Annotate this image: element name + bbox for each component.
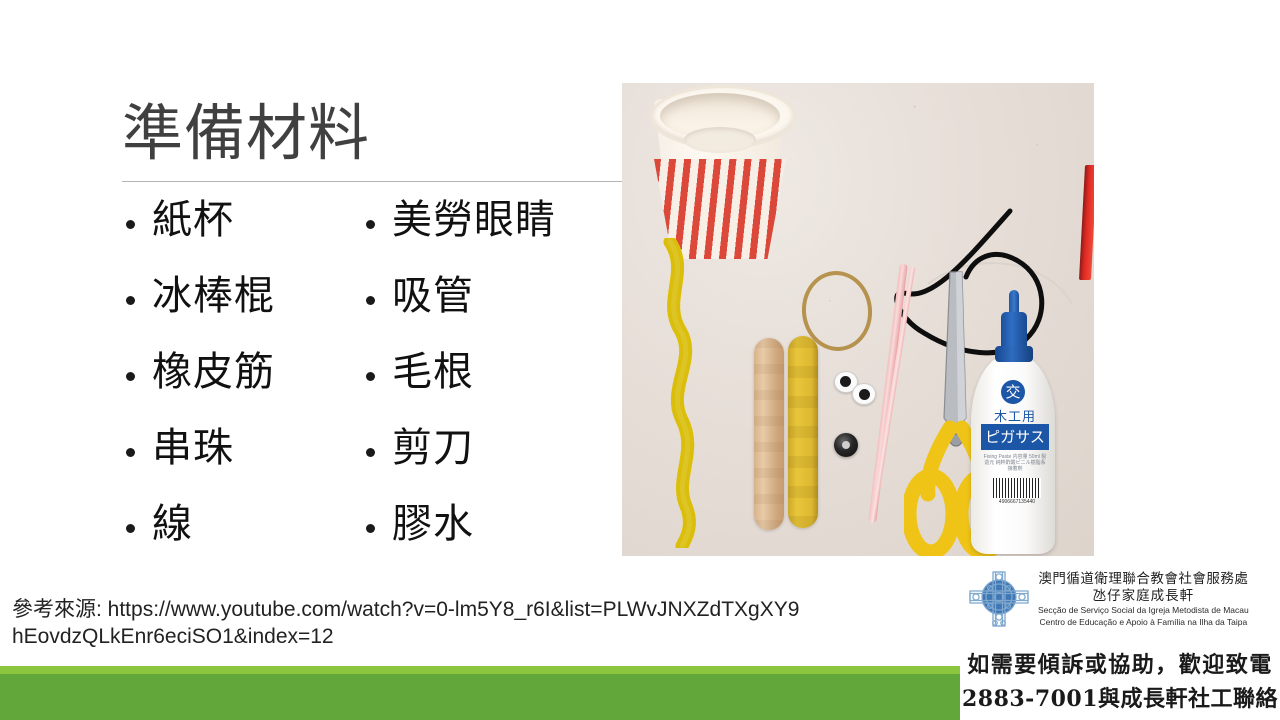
organisation-logo-block: 澳門循道衛理聯合教會社會服務處 氹仔家庭成長軒 Secção de Serviç… [960,560,1280,720]
materials-column-left: 紙杯 冰棒棍 橡皮筋 串珠 線 [126,197,366,577]
list-item-label: 冰棒棍 [152,273,275,319]
org-name-zh-2: 氹仔家庭成長軒 [1038,587,1249,605]
glue-fine-print: Fixing Paste 内容量 50ml 製造元 純粋酢酸ビニル樹脂系接着剤 [983,454,1047,472]
glue-kanji-label: 木工用 [987,406,1043,425]
list-item: 串珠 [126,425,366,501]
footer-bar [0,674,966,720]
materials-column-right: 美勞眼睛 吸管 毛根 剪刀 膠水 [366,197,616,577]
bullet-icon [126,357,152,387]
list-item: 毛根 [366,349,616,425]
list-item-label: 毛根 [392,349,474,395]
footer-accent-bar [0,666,966,674]
reference-source-text: 參考來源: https://www.youtube.com/watch?v=0-… [12,596,802,650]
bead-icon [834,433,858,457]
paper-cup-icon [646,85,794,263]
contact-call-to-action: 如需要傾訴或協助，歡迎致電 2883-7001與成長軒社工聯絡 [960,648,1280,716]
list-item: 美勞眼睛 [366,197,616,273]
list-item-label: 吸管 [392,273,474,319]
org-name-pt-1: Secção de Serviço Social da Igreja Metod… [1038,605,1249,617]
materials-photo: 交 木工用 ピガサス Fixing Paste 内容量 50ml 製造元 純粋酢… [622,83,1094,556]
barcode-icon [993,478,1041,498]
cta-line-1: 如需要傾訴或協助，歡迎致電 [960,648,1280,682]
list-item: 剪刀 [366,425,616,501]
list-item-label: 紙杯 [152,197,234,243]
logo-row: 澳門循道衛理聯合教會社會服務處 氹仔家庭成長軒 Secção de Serviç… [966,566,1280,632]
glue-brand-label: ピガサス [981,424,1049,450]
list-item: 紙杯 [126,197,366,273]
yellow-stick-icon [788,336,818,528]
list-item-label: 線 [152,501,193,547]
bullet-icon [366,433,392,463]
list-item: 線 [126,501,366,577]
bullet-icon [126,433,152,463]
list-item: 橡皮筋 [126,349,366,425]
wooden-stick-icon [754,338,784,530]
bullet-icon [366,281,392,311]
organisation-name: 澳門循道衛理聯合教會社會服務處 氹仔家庭成長軒 Secção de Serviç… [1038,566,1249,628]
bullet-icon [366,357,392,387]
bullet-icon [126,205,152,235]
list-item: 吸管 [366,273,616,349]
bullet-icon [366,509,392,539]
org-name-pt-2: Centro de Educação e Apoio à Família na … [1038,617,1249,629]
googly-eye-icon [852,383,876,405]
bullet-icon [366,205,392,235]
bullet-icon [126,281,152,311]
list-item-label: 串珠 [152,425,234,471]
cta-line-2-phone: 2883-7001與成長軒社工聯絡 [960,682,1280,716]
glue-badge: 交 [1001,380,1025,404]
glue-bottle-icon: 交 木工用 ピガサス Fixing Paste 内容量 50ml 製造元 純粋酢… [967,288,1059,556]
list-item: 膠水 [366,501,616,577]
list-item: 冰棒棍 [126,273,366,349]
slide-canvas: 準備材料 紙杯 冰棒棍 橡皮筋 串珠 線 [0,0,1280,720]
celtic-cross-icon [966,566,1032,632]
org-name-zh-1: 澳門循道衛理聯合教會社會服務處 [1038,570,1249,587]
list-item-label: 美勞眼睛 [392,197,556,243]
list-item-label: 剪刀 [392,425,474,471]
barcode-number: 4906667135440 [987,499,1047,505]
bullet-icon [126,509,152,539]
list-item-label: 橡皮筋 [152,349,275,395]
pipe-cleaner-icon [656,238,726,548]
materials-list: 紙杯 冰棒棍 橡皮筋 串珠 線 美勞眼睛 [126,197,626,577]
list-item-label: 膠水 [392,501,474,547]
